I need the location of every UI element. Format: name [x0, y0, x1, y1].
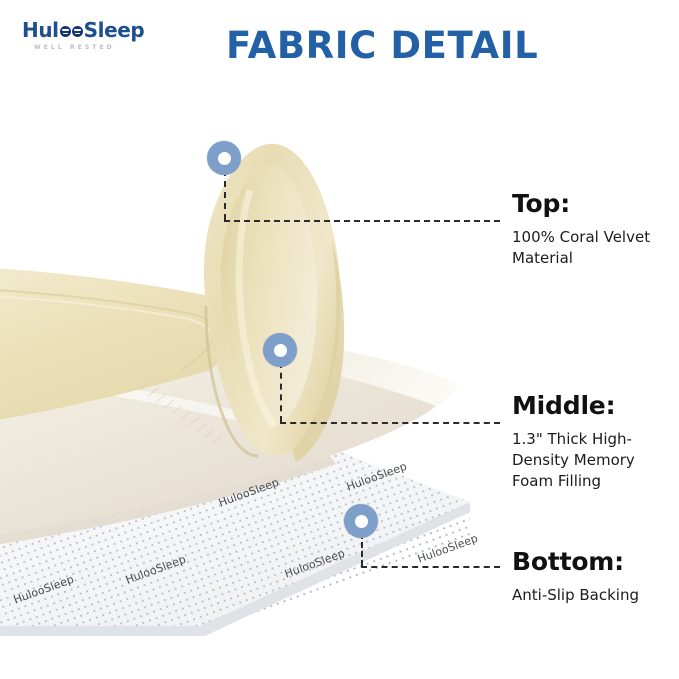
page-title: FABRIC DETAIL [226, 24, 538, 67]
marker-center-dot [274, 344, 287, 357]
leader-line-top-horizontal [224, 220, 500, 222]
leader-line-middle-horizontal [280, 422, 500, 424]
callout-marker-top[interactable] [207, 141, 241, 175]
marker-center-dot [355, 515, 368, 528]
callout-top-body: 100% Coral Velvet Material [512, 227, 672, 270]
brand-name-suffix: Sleep [84, 20, 145, 40]
brand-tagline: WELL RESTED [34, 44, 172, 51]
callout-marker-bottom[interactable] [344, 504, 378, 538]
brand-name-prefix: Hul [22, 20, 59, 40]
brand-wordmark: Hul Sleep [22, 20, 172, 40]
callout-marker-middle[interactable] [263, 333, 297, 367]
leader-line-bottom-horizontal [361, 566, 500, 568]
leader-line-top-vertical [224, 170, 226, 220]
callout-middle: Middle: 1.3" Thick High-Density Memory F… [512, 392, 672, 492]
callout-bottom-body: Anti-Slip Backing [512, 585, 672, 606]
callout-middle-body: 1.3" Thick High-Density Memory Foam Fill… [512, 429, 672, 493]
callout-bottom: Bottom: Anti-Slip Backing [512, 548, 672, 606]
fabric-detail-infographic: Hul Sleep WELL RESTED FABRIC DETAIL [0, 0, 679, 679]
callout-middle-title: Middle: [512, 392, 672, 420]
marker-center-dot [218, 152, 231, 165]
callout-top: Top: 100% Coral Velvet Material [512, 190, 672, 269]
callout-bottom-title: Bottom: [512, 548, 672, 576]
callout-top-title: Top: [512, 190, 672, 218]
leader-line-middle-vertical [280, 362, 282, 422]
brand-logo: Hul Sleep WELL RESTED [22, 20, 172, 51]
sleeping-eyes-icon [60, 26, 83, 37]
